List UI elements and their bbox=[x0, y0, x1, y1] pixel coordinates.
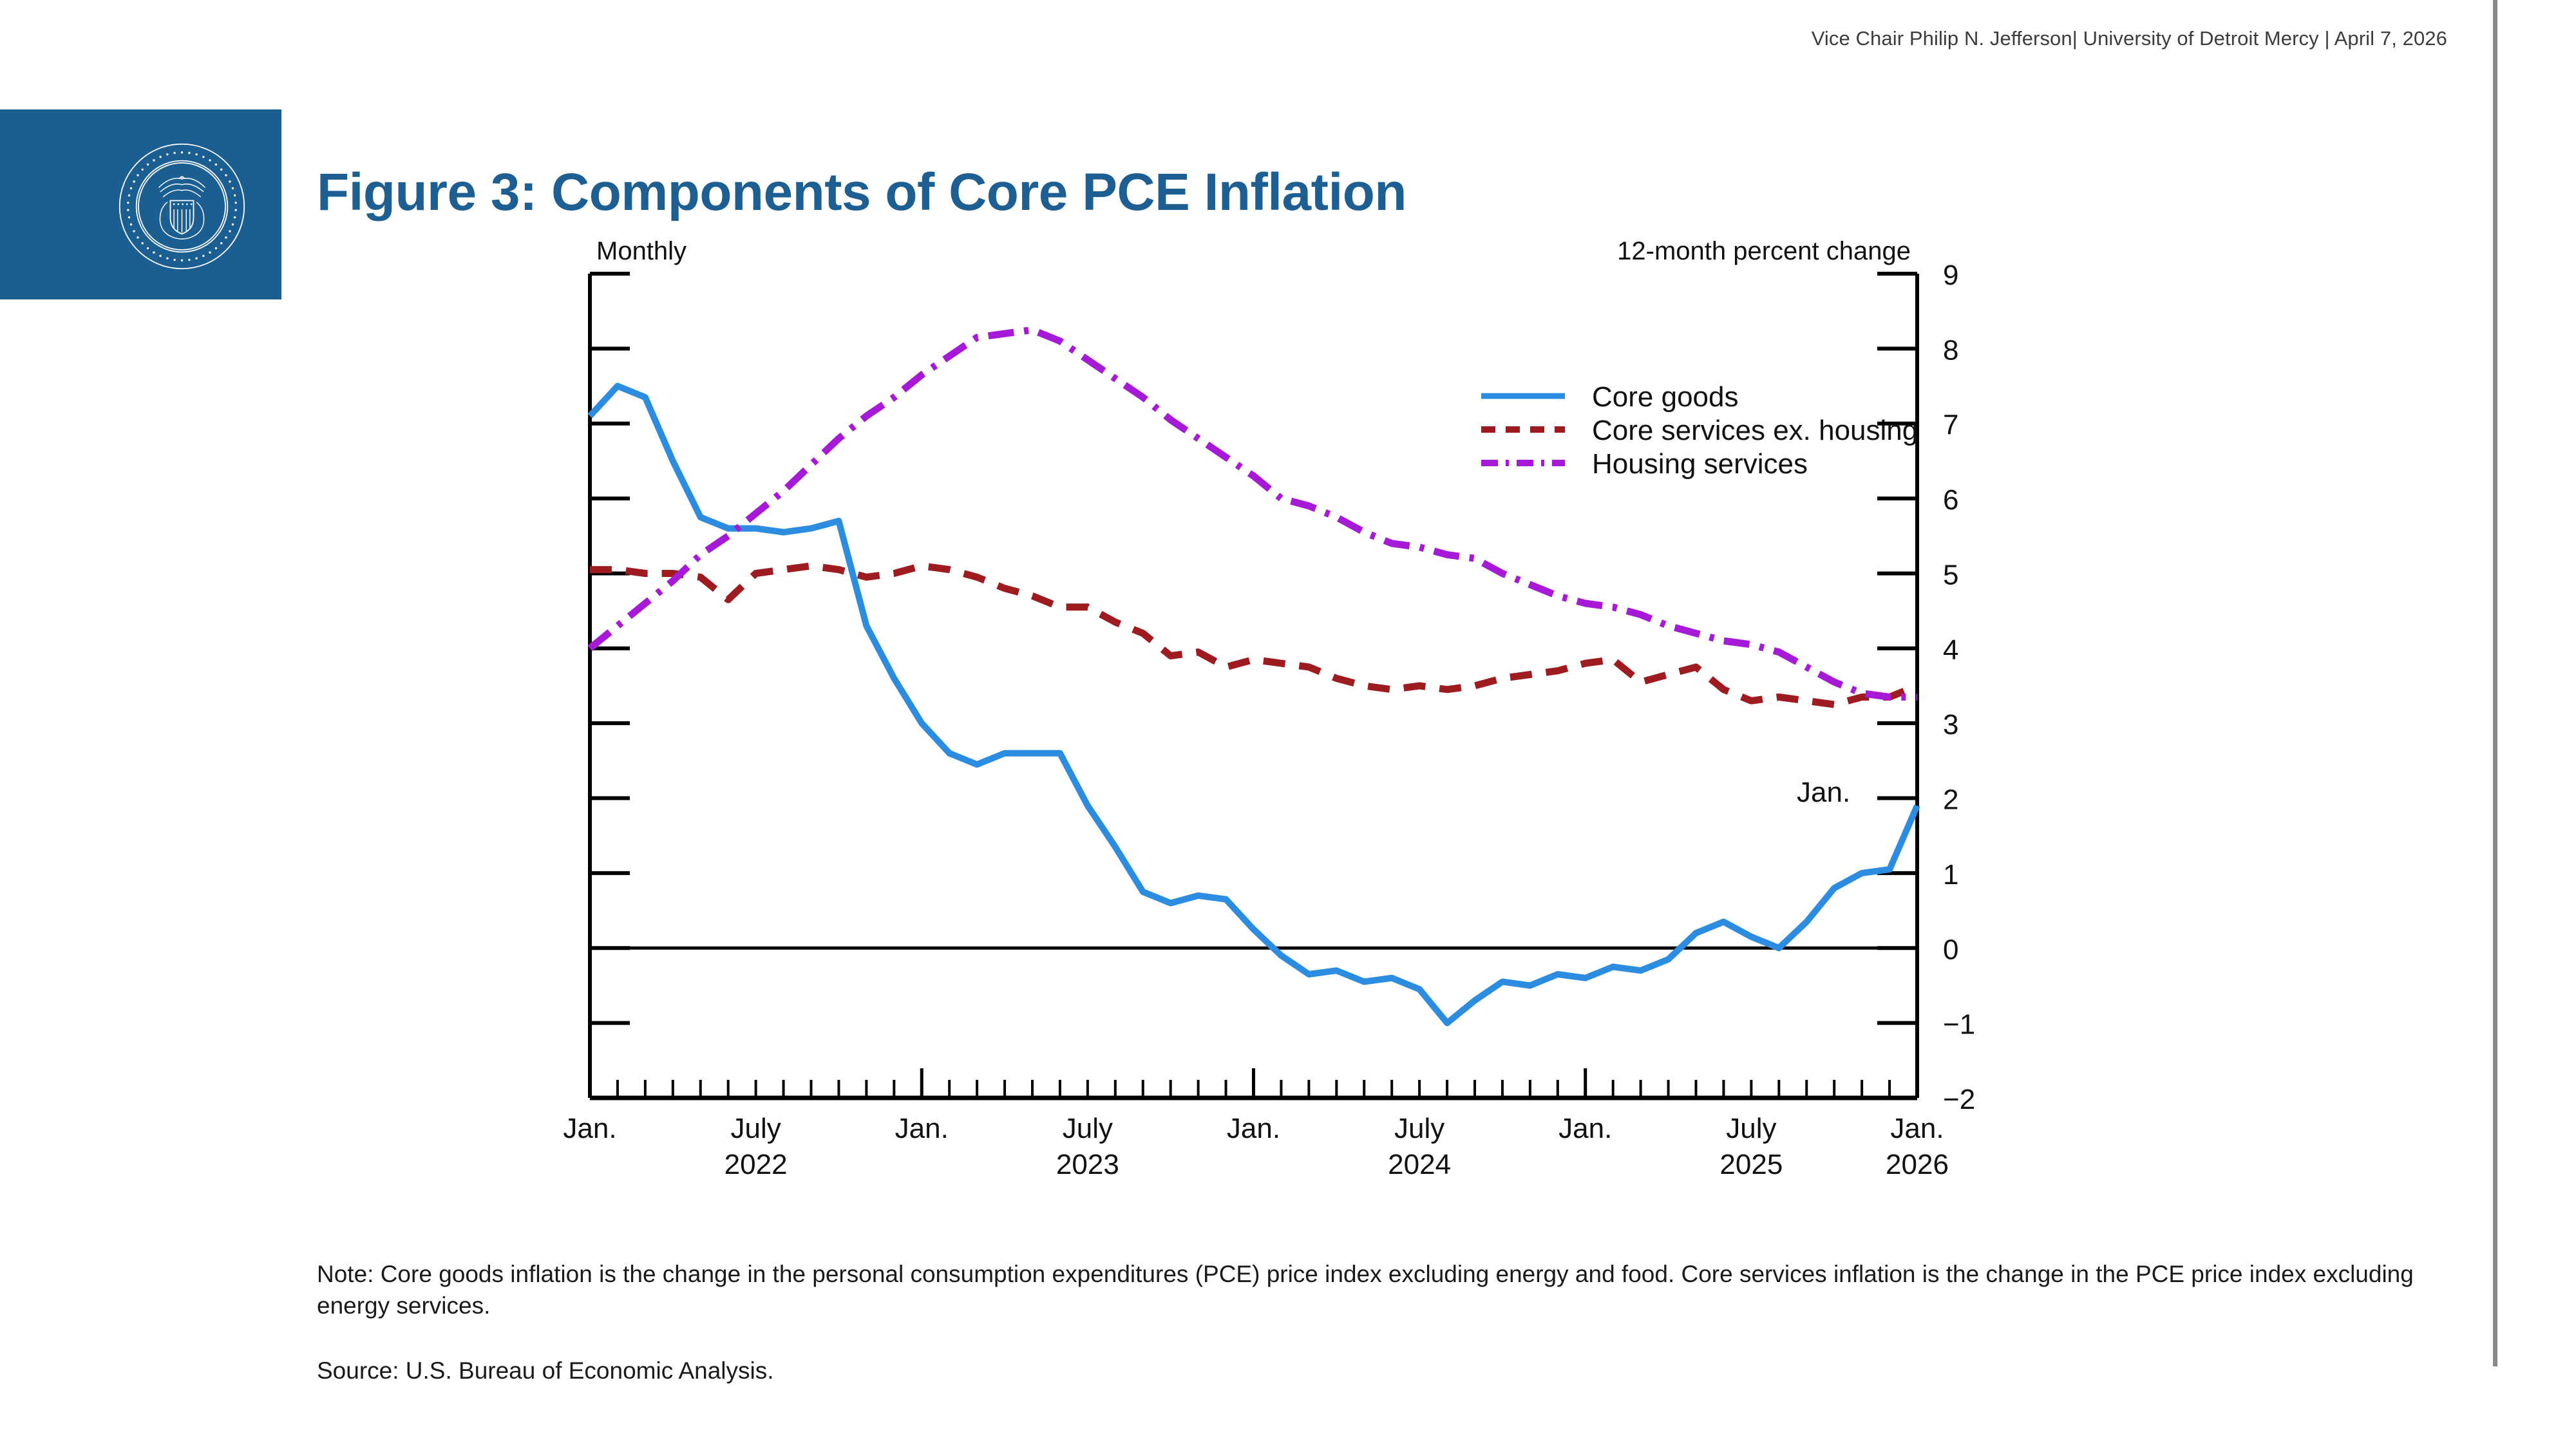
x-tick-label-month: Jan. bbox=[1227, 1113, 1280, 1144]
chart-source: Source: U.S. Bureau of Economic Analysis… bbox=[317, 1355, 2461, 1387]
x-tick-label-year: 2022 bbox=[724, 1149, 788, 1180]
x-tick-label-year: 2025 bbox=[1719, 1149, 1783, 1180]
y-tick-label: 3 bbox=[1943, 709, 1958, 741]
series-line-1 bbox=[590, 566, 1917, 704]
y-tick-label: −2 bbox=[1943, 1084, 1975, 1115]
y-tick-label: −1 bbox=[1943, 1009, 1975, 1041]
chart-text-labels: −2−10123456789Jan.July2022Jan.July2023Ja… bbox=[563, 237, 1975, 1180]
x-tick-label-month: July bbox=[1394, 1113, 1444, 1144]
x-tick-label-month: Jan. bbox=[563, 1113, 616, 1144]
core-pce-inflation-line-chart: Core goodsCore services ex. housingHousi… bbox=[0, 0, 2576, 1223]
x-tick-label-year: 2026 bbox=[1886, 1149, 1949, 1180]
x-tick-label-month: July bbox=[1063, 1113, 1113, 1144]
chart-container: Core goodsCore services ex. housingHousi… bbox=[0, 0, 2576, 1223]
x-tick-label-month: July bbox=[1726, 1113, 1776, 1144]
x-tick-label-year: 2024 bbox=[1388, 1149, 1451, 1180]
y-tick-label: 0 bbox=[1943, 934, 1958, 965]
y-tick-label: 7 bbox=[1943, 410, 1958, 441]
legend-label-0: Core goods bbox=[1592, 381, 1738, 413]
x-tick-label-year: 2023 bbox=[1056, 1149, 1119, 1180]
y-tick-label: 8 bbox=[1943, 334, 1958, 366]
chart-note: Note: Core goods inflation is the change… bbox=[317, 1259, 2461, 1322]
y-tick-label: 9 bbox=[1943, 260, 1958, 291]
last-observation-label: Jan. bbox=[1797, 777, 1850, 808]
chart-legend: Core goodsCore services ex. housingHousi… bbox=[1481, 381, 1918, 480]
x-tick-label-month: July bbox=[731, 1113, 781, 1144]
monthly-label: Monthly bbox=[596, 237, 687, 265]
y-tick-label: 5 bbox=[1943, 559, 1958, 590]
x-tick-label-month: Jan. bbox=[895, 1113, 949, 1144]
x-tick-label-month: Jan. bbox=[1890, 1113, 1944, 1144]
y-tick-label: 1 bbox=[1943, 859, 1958, 891]
legend-label-1: Core services ex. housing bbox=[1592, 415, 1918, 446]
y-tick-label: 2 bbox=[1943, 784, 1958, 816]
x-tick-label-month: Jan. bbox=[1558, 1113, 1612, 1144]
y-tick-label: 4 bbox=[1943, 634, 1958, 666]
y-tick-label: 6 bbox=[1943, 484, 1958, 516]
legend-label-2: Housing services bbox=[1592, 448, 1808, 480]
units-label: 12-month percent change bbox=[1617, 237, 1911, 265]
